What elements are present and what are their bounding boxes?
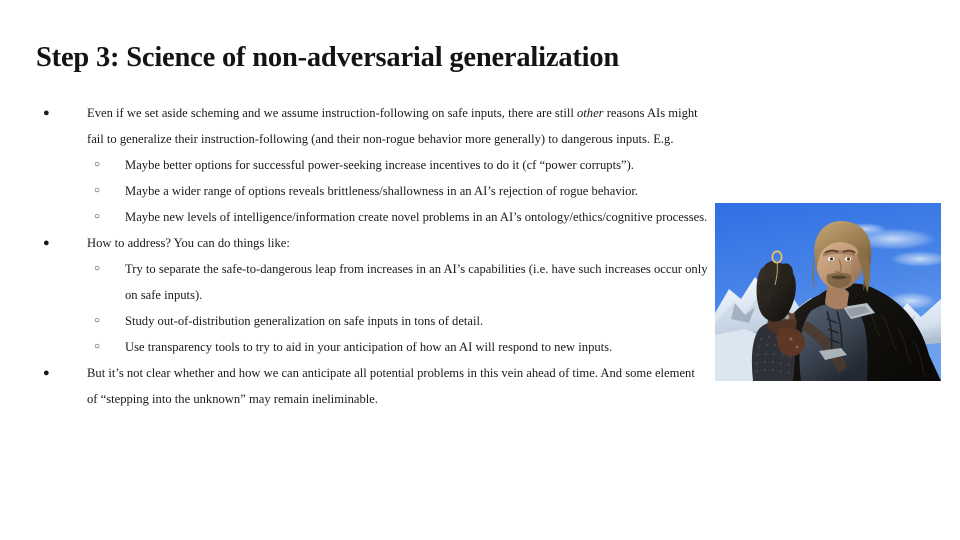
slide-canvas: Step 3: Science of non-adversarial gener… [0, 0, 960, 540]
pouch-stud [796, 346, 799, 349]
list-item-text: Maybe a wider range of options reveals b… [125, 178, 708, 204]
list-item: ○ Maybe new levels of intelligence/infor… [36, 204, 708, 230]
boromir-photo [715, 203, 941, 381]
pupil-left [830, 258, 833, 261]
bullet-marker-disc: ● [36, 230, 87, 256]
list-item-text-emphasis: other [577, 106, 604, 120]
glove-finger [765, 261, 781, 279]
list-item: ○ Maybe better options for successful po… [36, 152, 708, 178]
cheek-shadow [851, 255, 863, 279]
list-item: ● How to address? You can do things like… [36, 230, 708, 256]
bullet-marker-circle: ○ [86, 308, 125, 334]
list-item-text: Use transparency tools to try to aid in … [125, 334, 708, 360]
list-item-text: Study out-of-distribution generalization… [125, 308, 708, 334]
list-item-text: Even if we set aside scheming and we ass… [87, 100, 708, 152]
list-item: ○ Maybe a wider range of options reveals… [36, 178, 708, 204]
list-item-text: Maybe better options for successful powe… [125, 152, 708, 178]
list-item: ○ Use transparency tools to try to aid i… [36, 334, 708, 360]
list-item-text: Try to separate the safe-to-dangerous le… [125, 256, 708, 308]
bullet-marker-disc: ● [36, 360, 87, 386]
list-item-text: Maybe new levels of intelligence/informa… [125, 204, 708, 230]
list-item: ○ Study out-of-distribution generalizati… [36, 308, 708, 334]
pouch-stud [789, 337, 792, 340]
list-item: ○ Try to separate the safe-to-dangerous … [36, 256, 708, 308]
bullet-marker-disc: ● [36, 100, 87, 126]
bullet-list: ● Even if we set aside scheming and we a… [36, 100, 708, 412]
list-item-text: How to address? You can do things like: [87, 230, 708, 256]
bullet-marker-circle: ○ [86, 256, 125, 282]
bullet-marker-circle: ○ [86, 152, 125, 178]
bullet-marker-circle: ○ [86, 204, 125, 230]
list-item: ● But it’s not clear whether and how we … [36, 360, 708, 412]
bullet-marker-circle: ○ [86, 178, 125, 204]
list-item: ● Even if we set aside scheming and we a… [36, 100, 708, 152]
bullet-marker-circle: ○ [86, 334, 125, 360]
list-item-text-part-1: Even if we set aside scheming and we ass… [87, 106, 577, 120]
list-item-text: But it’s not clear whether and how we ca… [87, 360, 708, 412]
boromir-photo-graphic [715, 203, 941, 381]
pupil-right [847, 258, 850, 261]
page-title: Step 3: Science of non-adversarial gener… [36, 42, 856, 75]
